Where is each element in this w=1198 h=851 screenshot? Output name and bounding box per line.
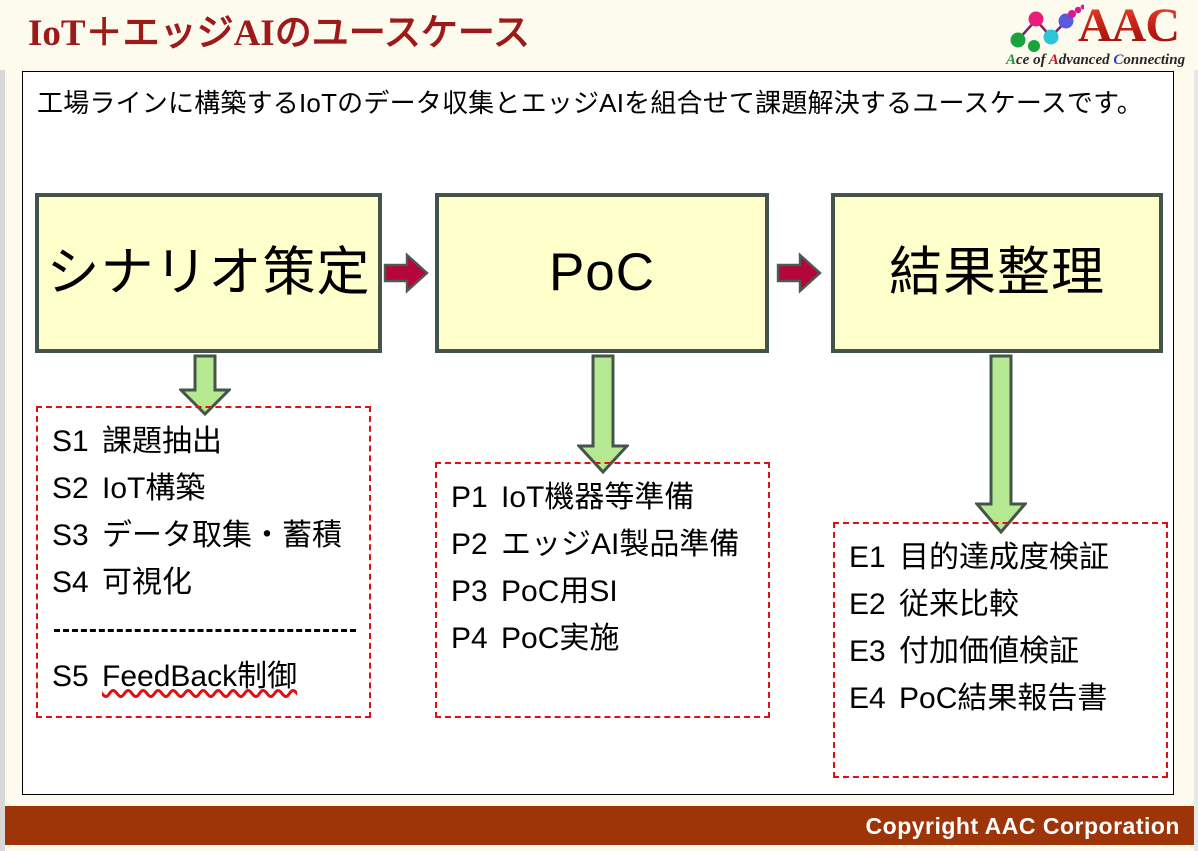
- detail-box-result: E1目的達成度検証E2従来比較E3付加価値検証E4PoC結果報告書: [833, 522, 1168, 778]
- detail-box-poc: P1IoT機器等準備P2エッジAI製品準備P3PoC用SIP4PoC実施: [435, 462, 770, 718]
- slide-header: IoT＋エッジAIのユースケース AAC Ace of Advanced Con…: [0, 0, 1198, 70]
- list-item-code: S2: [52, 465, 102, 512]
- tagline-part-1: ce of: [1016, 52, 1049, 68]
- list-item-label: IoT機器等準備: [501, 481, 694, 514]
- list-item-code: E2: [849, 581, 899, 628]
- list-item-label: PoC用SI: [501, 575, 618, 608]
- right-arrow-icon: [383, 252, 429, 294]
- list-item: E3付加価値検証: [849, 628, 1154, 675]
- list-item-code: S1: [52, 418, 102, 465]
- list-item-code: S3: [52, 512, 102, 559]
- logo-wordmark: AAC: [1078, 0, 1179, 54]
- list-item-label: PoC実施: [501, 622, 619, 655]
- list-item: P3PoC用SI: [451, 568, 756, 615]
- tagline-part-0: A: [1006, 52, 1016, 68]
- list-item-code: P4: [451, 615, 501, 662]
- copyright-text: Copyright AAC Corporation: [866, 813, 1180, 839]
- down-arrow-icon: [577, 354, 629, 474]
- list-item-label: 従来比較: [899, 588, 1019, 621]
- right-arrow-icon: [776, 252, 822, 294]
- detail-box-scenario: S1課題抽出S2IoT構築S3データ取集・蓄積S4可視化S5FeedBack制御: [36, 406, 371, 718]
- list-item: P2エッジAI製品準備: [451, 521, 756, 568]
- tagline-part-3: dvanced: [1059, 52, 1114, 68]
- list-item-code: E4: [849, 675, 899, 722]
- list-item: S5FeedBack制御: [52, 653, 357, 700]
- list-item-label: IoT構築: [102, 472, 205, 505]
- list-item-code: P2: [451, 521, 501, 568]
- list-item: S1課題抽出: [52, 418, 357, 465]
- list-item-code: S5: [52, 653, 102, 700]
- list-item-code: E1: [849, 534, 899, 581]
- description-text: 工場ラインに構築するIoTのデータ収集とエッジAIを組合せて課題解決するユースケ…: [37, 84, 1157, 123]
- phase-label: 結果整理: [889, 243, 1105, 303]
- content-frame: 工場ラインに構築するIoTのデータ収集とエッジAIを組合せて課題解決するユースケ…: [22, 71, 1174, 795]
- phase-label: シナリオ策定: [47, 243, 371, 303]
- logo-tagline: Ace of Advanced Connecting: [1006, 51, 1185, 69]
- list-item-label: 付加価値検証: [899, 635, 1079, 668]
- page-edge-left: [0, 0, 5, 851]
- page-title: IoT＋エッジAIのユースケース: [28, 12, 530, 56]
- list-item-label: エッジAI製品準備: [501, 528, 739, 561]
- slide-canvas: IoT＋エッジAIのユースケース AAC Ace of Advanced Con…: [0, 0, 1198, 851]
- list-item-code: S4: [52, 559, 102, 606]
- detail-separator: [52, 606, 357, 653]
- list-item-label: 課題抽出: [102, 425, 222, 458]
- tagline-part-5: onnecting: [1123, 52, 1185, 68]
- list-item: P4PoC実施: [451, 615, 756, 662]
- list-item: E1目的達成度検証: [849, 534, 1154, 581]
- phase-label: PoC: [549, 243, 655, 303]
- phase-box-scenario: シナリオ策定: [35, 193, 382, 353]
- phase-box-poc: PoC: [435, 193, 769, 353]
- list-item-label: PoC結果報告書: [899, 682, 1107, 715]
- down-arrow-icon: [975, 354, 1027, 534]
- list-item-code: P1: [451, 474, 501, 521]
- footer-bar: Copyright AAC Corporation: [5, 806, 1194, 845]
- list-item: E4PoC結果報告書: [849, 675, 1154, 722]
- list-item: S4可視化: [52, 559, 357, 606]
- aac-logo: AAC Ace of Advanced Connecting: [1000, 2, 1194, 70]
- list-item-label: FeedBack制御: [102, 660, 297, 693]
- list-item-label: データ取集・蓄積: [102, 519, 342, 552]
- list-item-code: P3: [451, 568, 501, 615]
- list-item-label: 可視化: [102, 566, 192, 599]
- tagline-part-2: A: [1049, 52, 1059, 68]
- list-item: S2IoT構築: [52, 465, 357, 512]
- list-item-code: E3: [849, 628, 899, 675]
- network-nodes-icon: [1006, 4, 1084, 52]
- list-item: S3データ取集・蓄積: [52, 512, 357, 559]
- list-item-label: 目的達成度検証: [899, 541, 1109, 574]
- list-item: P1IoT機器等準備: [451, 474, 756, 521]
- tagline-part-4: C: [1113, 52, 1123, 68]
- list-item: E2従来比較: [849, 581, 1154, 628]
- phase-box-result: 結果整理: [831, 193, 1163, 353]
- page-edge-right: [1194, 0, 1198, 851]
